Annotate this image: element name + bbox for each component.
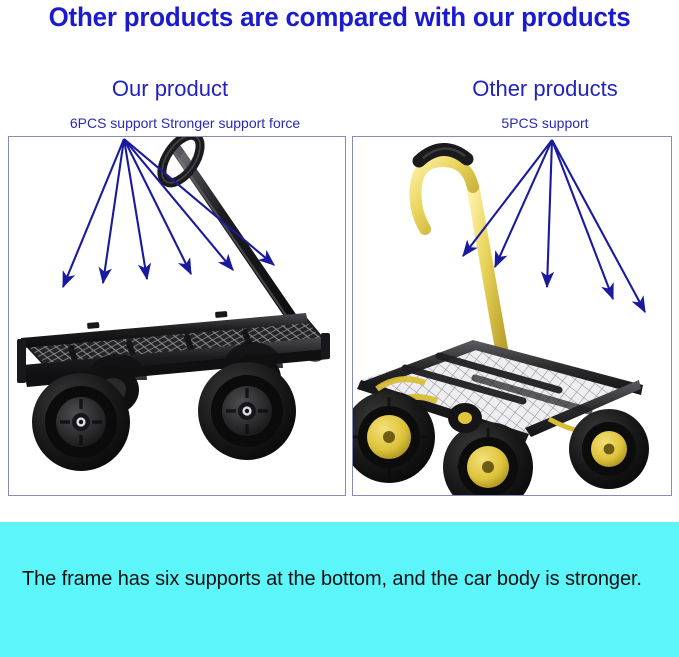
support-arrow-1 <box>63 139 124 287</box>
cart-illustration <box>353 148 649 495</box>
caption-text: The frame has six supports at the bottom… <box>22 568 662 591</box>
product-photo-black-cart <box>9 137 345 495</box>
cart-handle <box>415 148 505 369</box>
product-panel-our-product <box>8 136 346 496</box>
support-arrow-2 <box>103 139 124 283</box>
column-heading-other-products: Other products <box>400 76 679 102</box>
product-photo-yellow-cart <box>353 137 671 495</box>
support-label-our-product: 6PCS support Stronger support force <box>20 115 350 131</box>
caption-banner: The frame has six supports at the bottom… <box>0 522 679 657</box>
support-arrow-3 <box>547 140 552 287</box>
support-arrow-5 <box>552 140 645 312</box>
column-heading-our-product: Our product <box>40 76 300 102</box>
cart-bed <box>17 311 330 387</box>
cart-illustration <box>17 137 330 471</box>
support-arrow-4 <box>552 140 613 299</box>
support-label-other-products: 5PCS support <box>395 115 679 131</box>
product-panel-other-products <box>352 136 672 496</box>
page-title: Other products are compared with our pro… <box>14 2 666 33</box>
